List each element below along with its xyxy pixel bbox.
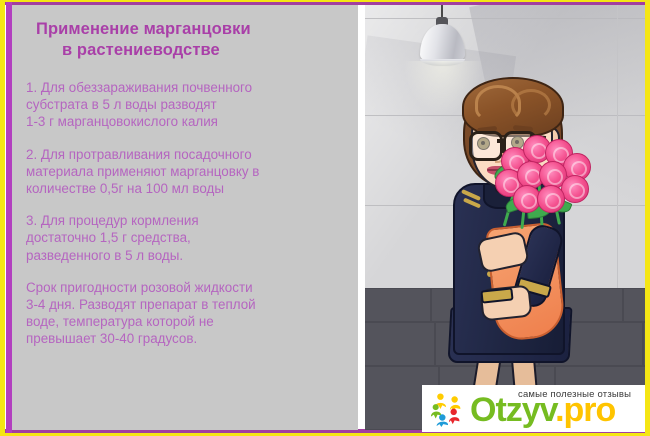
paragraph-4-line-2: 3-4 дня. Разводят препарат в теплой — [26, 296, 344, 313]
paragraph-2-line-3: количестве 0,5г на 100 мл воды — [26, 180, 344, 197]
paragraph-3-line-3: разведенного в 5 л воды. — [26, 247, 344, 264]
instruction-paragraph-4: Срок пригодности розовой жидкости 3-4 дн… — [26, 279, 344, 348]
instruction-paragraph-2: 2. Для протравливания посадочного матери… — [26, 146, 344, 198]
paragraph-2-line-2: материала применяют марганцовку в — [26, 163, 344, 180]
page-title-line-1: Применение марганцовки — [26, 19, 344, 40]
floor-tile — [365, 288, 431, 322]
instructions-body: 1. Для обеззараживания почвенного субстр… — [26, 79, 344, 348]
logo-word-yellow: .pro — [555, 391, 615, 429]
paragraph-3-line-2: достаточно 1,5 г средства, — [26, 229, 344, 246]
paragraph-1-line-3: 1-3 г марганцовокислого калия — [26, 113, 344, 130]
character-figure — [425, 75, 600, 430]
rose — [537, 185, 565, 213]
people-group-icon — [429, 391, 467, 427]
photo-illustration — [365, 5, 650, 430]
rose — [561, 175, 589, 203]
bouquet-of-roses — [487, 127, 605, 227]
paragraph-1-line-2: субстрата в 5 л воды разводят — [26, 96, 344, 113]
paragraph-4-line-1: Срок пригодности розовой жидкости — [26, 279, 344, 296]
wall-panel-line — [617, 5, 618, 288]
text-panel: Применение марганцовки в растениеводстве… — [12, 5, 358, 430]
logo-word-green: Otzyv — [470, 391, 555, 429]
hair-swirl-2 — [511, 89, 551, 121]
page-title-line-2: в растениеводстве — [26, 40, 344, 61]
wall-seam-1 — [365, 18, 650, 19]
logo-wordmark[interactable]: Otzyv.pro — [470, 393, 615, 427]
paragraph-3-line-1: 3. Для процедур кормления — [26, 212, 344, 229]
instruction-paragraph-1: 1. Для обеззараживания почвенного субстр… — [26, 79, 344, 131]
site-logo-badge[interactable]: самые полезные отзывы Otzyv.pro — [422, 385, 650, 432]
paragraph-4-line-3: воде, температура которой не — [26, 313, 344, 330]
floor-tile — [623, 288, 650, 322]
floor-tile — [643, 322, 650, 366]
page-title: Применение марганцовки в растениеводстве — [26, 19, 344, 61]
paragraph-1-line-1: 1. Для обеззараживания почвенного — [26, 79, 344, 96]
paragraph-2-line-1: 2. Для протравливания посадочного — [26, 146, 344, 163]
poster-root: Применение марганцовки в растениеводстве… — [0, 0, 650, 436]
paragraph-4-line-4: превышает 30-40 градусов. — [26, 330, 344, 347]
instruction-paragraph-3: 3. Для процедур кормления достаточно 1,5… — [26, 212, 344, 264]
